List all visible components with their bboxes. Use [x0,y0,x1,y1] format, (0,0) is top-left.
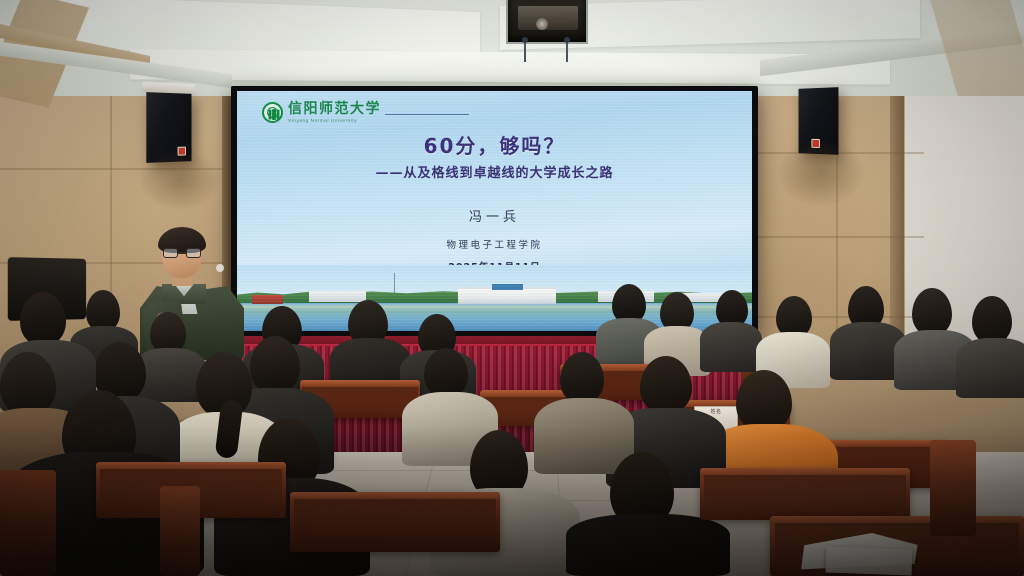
university-logo: 信阳师范大学 Xinyang Normal University [262,102,381,123]
chair-back [930,440,976,536]
lecture-desk-foreground [290,492,500,552]
speaker-shadow [778,140,864,206]
presenter-glasses-icon [163,248,201,258]
lecture-desk-foreground [700,468,910,520]
audience-member [972,296,1012,344]
audience-member [424,348,468,398]
projector-lens-icon [536,18,548,30]
slide-speaker-name: 冯一兵 [237,206,752,225]
audience-member [736,370,792,432]
speaker-shadow [140,150,220,210]
slide-department: 物理电子工程学院 [237,237,752,251]
audience-member [250,336,300,394]
university-name-en: Xinyang Normal University [288,118,381,123]
wall-seam [752,236,924,238]
papers-on-desk [826,547,913,576]
audience-member [20,292,66,346]
chair-back [160,486,200,576]
university-name-cn: 信阳师范大学 [288,102,381,116]
slide-title: 60分，够吗？ [237,130,752,159]
campus-flagpole [394,273,395,295]
presenter-jacket-emblem-icon [216,264,224,272]
slide-subtitle: ——从及格线到卓越线的大学成长之路 [237,162,752,181]
audience-torso [566,514,730,576]
university-crest-icon [262,102,283,123]
campus-main-building [458,287,556,304]
projector-body [518,6,578,30]
audience-member [640,356,692,414]
audience-member [560,352,604,404]
chair-back [0,470,56,576]
audience-torso [956,338,1024,398]
lecture-hall-scene: 信阳师范大学 Xinyang Normal University 60分，够吗？… [0,0,1024,576]
projector-recess [506,0,588,44]
audience-member [0,352,56,416]
audience-torso [700,322,762,372]
campus-pavilion [252,295,283,304]
projector-mount-rod [566,40,568,62]
projector-mount-rod [524,40,526,62]
speaker-bracket [142,82,195,94]
audience-member [912,288,952,336]
logo-divider-rule [385,114,469,115]
